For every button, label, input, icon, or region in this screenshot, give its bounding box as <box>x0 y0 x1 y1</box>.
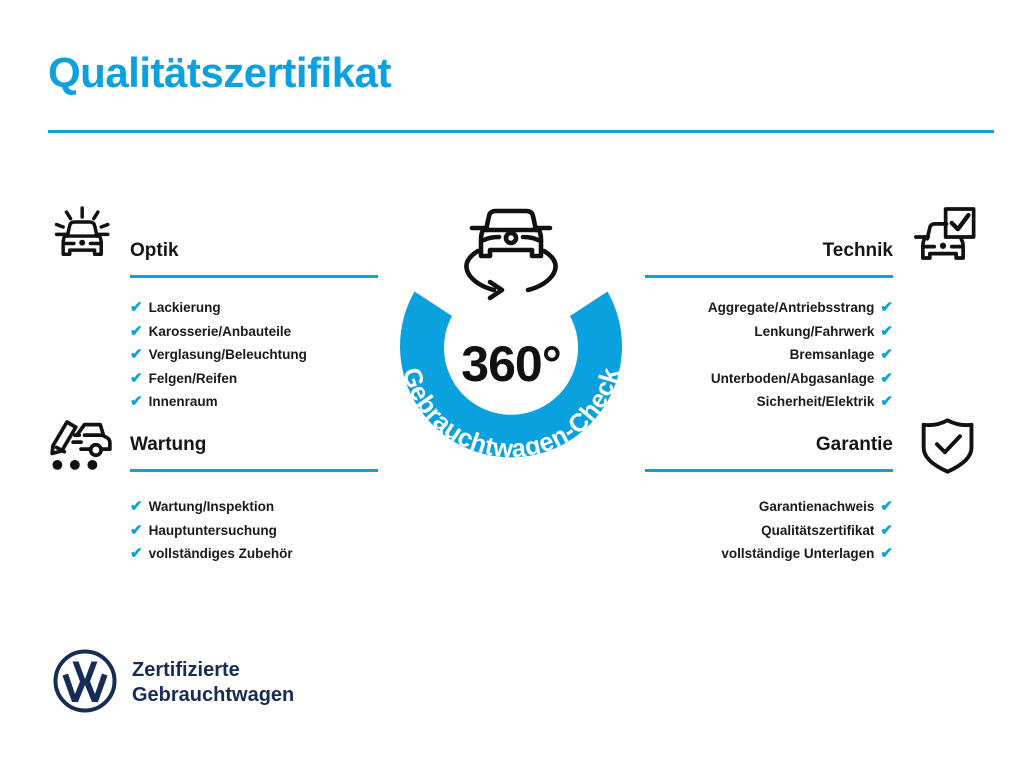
section-title: Garantie <box>645 432 893 458</box>
car-front-shine-icon <box>48 203 118 265</box>
list-item: ✔Karosserie/Anbauteile <box>130 320 378 344</box>
list-item-label: Karosserie/Anbauteile <box>149 320 292 344</box>
list-item-label: vollständige Unterlagen <box>721 542 874 566</box>
check-icon: ✔ <box>880 371 893 386</box>
check-icon: ✔ <box>880 546 893 561</box>
list-item-label: Verglasung/Beleuchtung <box>149 343 307 367</box>
list-item: ✔Hauptuntersuchung <box>130 519 378 543</box>
check-icon: ✔ <box>880 324 893 339</box>
list-item-label: Lackierung <box>149 296 221 320</box>
list-item-label: Aggregate/Antriebsstrang <box>708 296 875 320</box>
check-icon: ✔ <box>130 523 143 538</box>
section-optik: Optik ✔Lackierung ✔Karosserie/Anbauteile… <box>130 238 378 414</box>
section-header: Technik <box>645 238 893 278</box>
list-item: Qualitätszertifikat✔ <box>645 519 893 543</box>
volkswagen-logo <box>52 648 118 714</box>
list-item: Aggregate/Antriebsstrang✔ <box>645 296 893 320</box>
list-item: Sicherheit/Elektrik✔ <box>645 390 893 414</box>
list-item: Bremsanlage✔ <box>645 343 893 367</box>
section-underline <box>645 275 893 278</box>
list-item-label: Unterboden/Abgasanlage <box>711 367 875 391</box>
checklist-wartung: ✔Wartung/Inspektion ✔Hauptuntersuchung ✔… <box>130 495 378 566</box>
check-icon: ✔ <box>880 300 893 315</box>
list-item: ✔Wartung/Inspektion <box>130 495 378 519</box>
list-item-label: Garantienachweis <box>759 495 875 519</box>
check-icon: ✔ <box>880 394 893 409</box>
list-item: ✔Lackierung <box>130 296 378 320</box>
check-icon: ✔ <box>880 523 893 538</box>
list-item-label: Lenkung/Fahrwerk <box>754 320 874 344</box>
check-icon: ✔ <box>130 546 143 561</box>
list-item-label: Bremsanlage <box>790 343 875 367</box>
car-rotation-360-icon <box>466 211 555 298</box>
section-title: Wartung <box>130 432 378 458</box>
checklist-garantie: Garantienachweis✔ Qualitätszertifikat✔ v… <box>645 495 893 566</box>
list-item: Unterboden/Abgasanlage✔ <box>645 367 893 391</box>
checklist-optik: ✔Lackierung ✔Karosserie/Anbauteile ✔Verg… <box>130 296 378 414</box>
list-item-label: Sicherheit/Elektrik <box>757 390 875 414</box>
list-item: ✔vollständiges Zubehör <box>130 542 378 566</box>
list-item-label: Qualitätszertifikat <box>761 519 874 543</box>
list-item: Garantienachweis✔ <box>645 495 893 519</box>
section-title: Technik <box>645 238 893 264</box>
car-front-checkbox-icon <box>908 206 978 268</box>
check-icon: ✔ <box>130 499 143 514</box>
header-divider <box>48 130 994 133</box>
list-item: ✔Felgen/Reifen <box>130 367 378 391</box>
badge-center-label: 360° <box>378 339 644 389</box>
list-item: Lenkung/Fahrwerk✔ <box>645 320 893 344</box>
pencil-car-service-icon <box>46 412 116 474</box>
footer-line-2: Gebrauchtwagen <box>132 683 294 708</box>
section-header: Garantie <box>645 432 893 472</box>
check-icon: ✔ <box>130 371 143 386</box>
section-underline <box>130 469 378 472</box>
list-item: ✔Innenraum <box>130 390 378 414</box>
list-item-label: Hauptuntersuchung <box>149 519 277 543</box>
check-icon: ✔ <box>130 394 143 409</box>
section-wartung: Wartung ✔Wartung/Inspektion ✔Hauptunters… <box>130 432 378 566</box>
check-icon: ✔ <box>130 347 143 362</box>
list-item: ✔Verglasung/Beleuchtung <box>130 343 378 367</box>
section-title: Optik <box>130 238 378 264</box>
check-icon: ✔ <box>880 347 893 362</box>
shield-check-icon <box>913 415 983 477</box>
section-technik: Technik Aggregate/Antriebsstrang✔ Lenkun… <box>645 238 893 414</box>
section-underline <box>645 469 893 472</box>
list-item: vollständige Unterlagen✔ <box>645 542 893 566</box>
list-item-label: Wartung/Inspektion <box>149 495 275 519</box>
checklist-technik: Aggregate/Antriebsstrang✔ Lenkung/Fahrwe… <box>645 296 893 414</box>
list-item-label: Felgen/Reifen <box>149 367 238 391</box>
section-garantie: Garantie Garantienachweis✔ Qualitätszert… <box>645 432 893 566</box>
list-item-label: Innenraum <box>149 390 218 414</box>
section-underline <box>130 275 378 278</box>
list-item-label: vollständiges Zubehör <box>149 542 293 566</box>
section-header: Optik <box>130 238 378 278</box>
footer-logo-text: Zertifizierte Gebrauchtwagen <box>132 658 294 708</box>
section-header: Wartung <box>130 432 378 472</box>
page-title: Qualitätszertifikat <box>48 52 391 94</box>
check-icon: ✔ <box>880 499 893 514</box>
footer-line-1: Zertifizierte <box>132 658 294 683</box>
check-icon: ✔ <box>130 324 143 339</box>
check-icon: ✔ <box>130 300 143 315</box>
360-check-badge: Gebrauchtwagen-Check 360° <box>378 196 644 486</box>
